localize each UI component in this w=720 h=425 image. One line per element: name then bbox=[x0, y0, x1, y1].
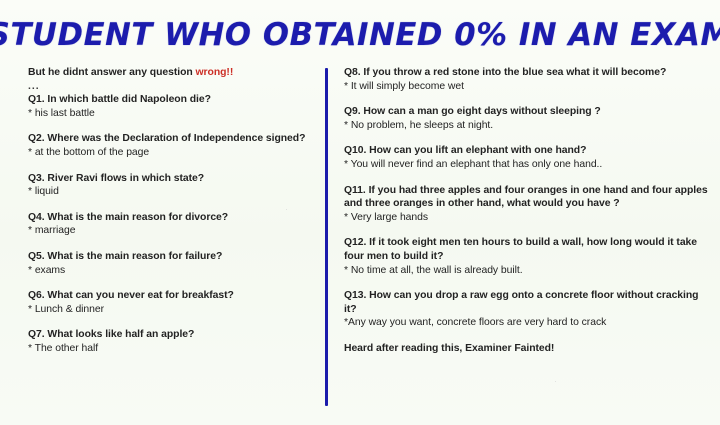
outro-text: Heard after reading this, Examiner Faint… bbox=[344, 342, 712, 356]
right-column: Q8. If you throw a red stone into the bl… bbox=[344, 66, 712, 356]
question-text: Q1. In which battle did Napoleon die? bbox=[28, 93, 313, 107]
intro-prefix: But he didnt answer any question bbox=[28, 67, 196, 78]
answer-text: * at the bottom of the page bbox=[28, 146, 313, 160]
answer-text: *Any way you want, concrete floors are v… bbox=[344, 316, 712, 330]
question-text: Q4. What is the main reason for divorce? bbox=[28, 211, 313, 225]
title-bar: STUDENT WHO OBTAINED 0% IN AN EXAM bbox=[0, 10, 720, 60]
scan-speck bbox=[286, 209, 287, 210]
column-divider bbox=[325, 68, 328, 406]
poster-canvas: STUDENT WHO OBTAINED 0% IN AN EXAM But h… bbox=[0, 0, 720, 425]
outro-block: Heard after reading this, Examiner Faint… bbox=[344, 342, 712, 356]
question-text: Q13. How can you drop a raw egg onto a c… bbox=[344, 289, 712, 316]
qa-item-q5: Q5. What is the main reason for failure?… bbox=[28, 250, 313, 277]
qa-item-q1: Q1. In which battle did Napoleon die? * … bbox=[28, 93, 313, 120]
qa-item-q12: Q12. If it took eight men ten hours to b… bbox=[344, 236, 712, 277]
qa-item-q4: Q4. What is the main reason for divorce?… bbox=[28, 211, 313, 238]
page-title: STUDENT WHO OBTAINED 0% IN AN EXAM bbox=[0, 18, 720, 52]
intro-block: But he didnt answer any question wrong!!… bbox=[28, 66, 313, 93]
answer-text: * You will never find an elephant that h… bbox=[344, 158, 712, 172]
question-text: Q5. What is the main reason for failure? bbox=[28, 250, 313, 264]
qa-item-q8: Q8. If you throw a red stone into the bl… bbox=[344, 66, 712, 93]
qa-item-q7: Q7. What looks like half an apple? * The… bbox=[28, 328, 313, 355]
question-text: Q7. What looks like half an apple? bbox=[28, 328, 313, 342]
ellipsis-line: ... bbox=[28, 80, 313, 94]
answer-text: * Very large hands bbox=[344, 211, 712, 225]
answer-text: * his last battle bbox=[28, 107, 313, 121]
question-text: Q3. River Ravi flows in which state? bbox=[28, 172, 313, 186]
qa-item-q3: Q3. River Ravi flows in which state? * l… bbox=[28, 172, 313, 199]
answer-text: * Lunch & dinner bbox=[28, 303, 313, 317]
left-column: But he didnt answer any question wrong!!… bbox=[28, 66, 313, 356]
qa-item-q10: Q10. How can you lift an elephant with o… bbox=[344, 144, 712, 171]
question-text: Q10. How can you lift an elephant with o… bbox=[344, 144, 712, 158]
answer-text: * No time at all, the wall is already bu… bbox=[344, 264, 712, 278]
qa-item-q2: Q2. Where was the Declaration of Indepen… bbox=[28, 132, 313, 159]
answer-text: * marriage bbox=[28, 224, 313, 238]
question-text: Q2. Where was the Declaration of Indepen… bbox=[28, 132, 313, 146]
qa-item-q6: Q6. What can you never eat for breakfast… bbox=[28, 289, 313, 316]
answer-text: * exams bbox=[28, 264, 313, 278]
answer-text: * It will simply become wet bbox=[344, 80, 712, 94]
question-text: Q8. If you throw a red stone into the bl… bbox=[344, 66, 712, 80]
answer-text: * No problem, he sleeps at night. bbox=[344, 119, 712, 133]
qa-item-q11: Q11. If you had three apples and four or… bbox=[344, 184, 712, 225]
answer-text: * The other half bbox=[28, 342, 313, 356]
qa-item-q13: Q13. How can you drop a raw egg onto a c… bbox=[344, 289, 712, 330]
question-text: Q6. What can you never eat for breakfast… bbox=[28, 289, 313, 303]
question-text: Q12. If it took eight men ten hours to b… bbox=[344, 236, 712, 263]
intro-highlight: wrong!! bbox=[196, 67, 234, 78]
question-text: Q9. How can a man go eight days without … bbox=[344, 105, 712, 119]
answer-text: * liquid bbox=[28, 185, 313, 199]
qa-item-q9: Q9. How can a man go eight days without … bbox=[344, 105, 712, 132]
scan-speck bbox=[555, 381, 556, 382]
question-text: Q11. If you had three apples and four or… bbox=[344, 184, 712, 211]
content-columns: But he didnt answer any question wrong!!… bbox=[0, 66, 720, 418]
intro-line: But he didnt answer any question wrong!! bbox=[28, 66, 313, 80]
